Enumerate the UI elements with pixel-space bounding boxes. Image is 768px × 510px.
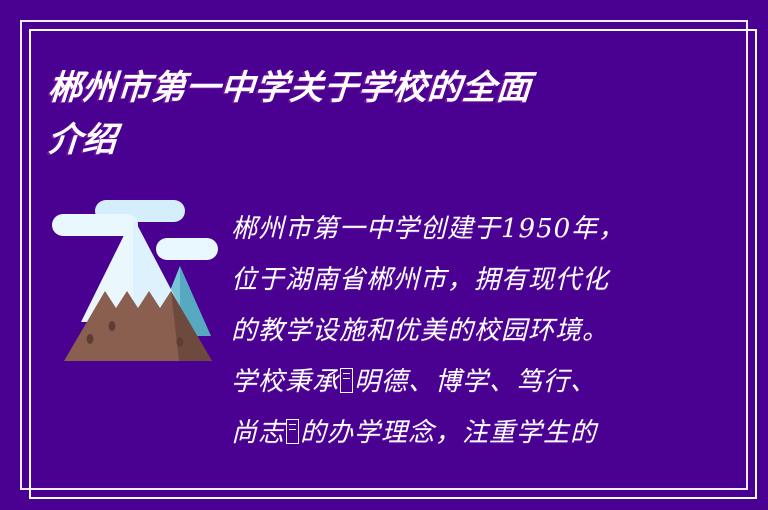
body-line-text-5b: 的办学理念，注重学生的 bbox=[300, 418, 597, 448]
rock-dot-2 bbox=[109, 321, 116, 331]
page-title-line-2: 介绍 bbox=[46, 114, 690, 166]
body-line-text-2: 位于湖南省郴州市，拥有现代化 bbox=[231, 265, 609, 295]
body-line-text-5a: 尚志 bbox=[231, 418, 285, 448]
body-line-text-1: 郴州市第一中学创建于1950年， bbox=[231, 214, 625, 244]
body-line: 的教学设施和优美的校园环境。 bbox=[231, 306, 661, 357]
page-title-line-1: 郴州市第一中学关于学校的全面 bbox=[46, 62, 690, 114]
missing-glyph-box bbox=[286, 419, 299, 444]
rock-dot-1 bbox=[87, 334, 94, 344]
missing-glyph-box bbox=[340, 368, 353, 393]
mountain-landscape-icon bbox=[48, 196, 218, 376]
body-line-text-4b: 明德、博学、笃行、 bbox=[354, 367, 597, 397]
body-line: 学校秉承明德、博学、笃行、 bbox=[231, 357, 661, 408]
body-line-text-3: 的教学设施和优美的校园环境。 bbox=[231, 316, 609, 346]
body-line: 尚志的办学理念，注重学生的 bbox=[231, 408, 661, 459]
rock-dot-3 bbox=[177, 337, 184, 347]
page-title: 郴州市第一中学关于学校的全面 介绍 bbox=[48, 62, 688, 166]
body-line: 郴州市第一中学创建于1950年， bbox=[231, 204, 661, 255]
cloud-large bbox=[52, 200, 185, 236]
body-copy: 郴州市第一中学创建于1950年， 位于湖南省郴州市，拥有现代化 的教学设施和优美… bbox=[231, 204, 661, 459]
body-line-text-4a: 学校秉承 bbox=[231, 367, 339, 397]
body-line: 位于湖南省郴州市，拥有现代化 bbox=[231, 255, 661, 306]
mountain-landscape-svg bbox=[48, 196, 218, 376]
cloud-small bbox=[156, 238, 218, 260]
poster-canvas: 郴州市第一中学关于学校的全面 介绍 bbox=[0, 0, 768, 510]
